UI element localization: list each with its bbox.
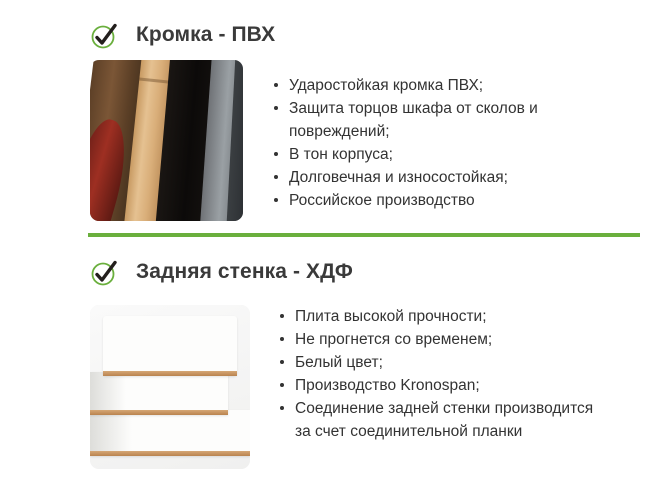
edge-banding-artwork [90, 60, 243, 221]
section-title: Задняя стенка - ХДФ [136, 260, 353, 284]
pvc-edge-banding-image [90, 60, 243, 221]
check-circle-icon [88, 255, 122, 289]
list-item: Российское производство [272, 189, 602, 212]
board-edge-stripe [103, 371, 237, 376]
board-edge-stripe [90, 410, 228, 415]
hdf-boards-artwork [90, 305, 250, 469]
section-header-pvc-edge: Кромка - ПВХ [88, 18, 275, 52]
list-item: В тон корпуса; [272, 143, 602, 166]
list-item: Белый цвет; [278, 351, 608, 374]
feature-list-pvc-edge: Ударостойкая кромка ПВХ; Защита торцов ш… [272, 74, 602, 212]
hdf-board-bottom [90, 410, 250, 456]
check-circle-icon [88, 18, 122, 52]
list-item: Соединение задней стенки производится за… [278, 397, 608, 443]
list-item: Не прогнется со временем; [278, 328, 608, 351]
board-shadow [90, 372, 126, 415]
list-item: Производство Kronospan; [278, 374, 608, 397]
list-item: Плита высокой прочности; [278, 305, 608, 328]
section-header-hdf-back-panel: Задняя стенка - ХДФ [88, 255, 353, 289]
hdf-board-middle [90, 372, 228, 415]
board-edge-stripe [90, 451, 250, 456]
list-item: Долговечная и износостойкая; [272, 166, 602, 189]
section-divider [88, 233, 640, 237]
board-shadow [90, 410, 132, 456]
list-item: Защита торцов шкафа от сколов и поврежде… [272, 97, 602, 143]
hdf-boards-image [90, 305, 250, 469]
list-item: Ударостойкая кромка ПВХ; [272, 74, 602, 97]
feature-list-hdf-back-panel: Плита высокой прочности; Не прогнется со… [278, 305, 608, 443]
hdf-board-top [103, 316, 237, 375]
section-title: Кромка - ПВХ [136, 23, 275, 47]
